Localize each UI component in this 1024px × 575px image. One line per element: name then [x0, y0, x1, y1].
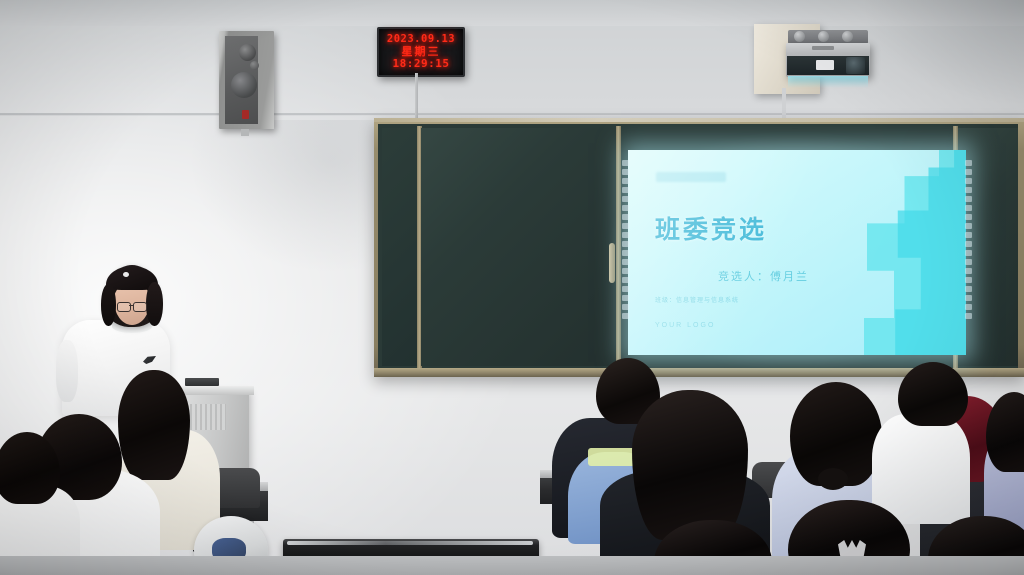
speaker-woofer-icon [231, 72, 257, 98]
speaker-badge [242, 110, 249, 119]
console-device [185, 378, 219, 386]
board-edge-reflection-left [620, 160, 631, 319]
projector-label [816, 60, 834, 70]
console-vent [190, 404, 226, 430]
clock-weekday: 星期三 [402, 46, 441, 58]
presenter-hair-side [101, 284, 116, 326]
projector-lens-icon [846, 57, 865, 74]
presenter-glasses-icon [117, 302, 131, 312]
clock-time: 18:29:15 [393, 58, 450, 70]
chalkboard-panel-center [421, 128, 617, 366]
board-edge-reflection-right [963, 160, 974, 319]
speaker-midrange-icon [250, 61, 259, 70]
wall-shadow-left [150, 120, 410, 320]
presenter-glasses-icon [133, 302, 147, 312]
led-wall-clock: 2023.09.13 星期三 18:29:15 [377, 27, 465, 77]
clock-mount-stem [415, 73, 418, 121]
projector-brand-mark [812, 46, 834, 50]
projector-pole [782, 88, 786, 122]
projected-presentation-slide: 班委竞选 竞选人：傅月兰 班级：信息管理与信息系统 YOUR LOGO [628, 150, 966, 355]
chalkboard-panel-left [382, 128, 418, 366]
slide-light-sheen [628, 150, 966, 355]
speaker-bracket [241, 129, 249, 136]
presenter-glasses-bridge [129, 305, 133, 306]
projector-knob-icon [818, 31, 829, 42]
projector-knob-icon [842, 31, 853, 42]
presenter-arm [56, 340, 78, 402]
classroom-scene: 2023.09.13 星期三 18:29:15 [0, 0, 1024, 575]
speaker-tweeter-icon [239, 44, 256, 61]
presenter-hair-clip [123, 272, 129, 277]
classroom-floor [0, 556, 1024, 575]
projector-knob-icon [794, 31, 805, 42]
projector-beam-glow [788, 76, 868, 88]
presenter-hair-side [146, 282, 163, 326]
